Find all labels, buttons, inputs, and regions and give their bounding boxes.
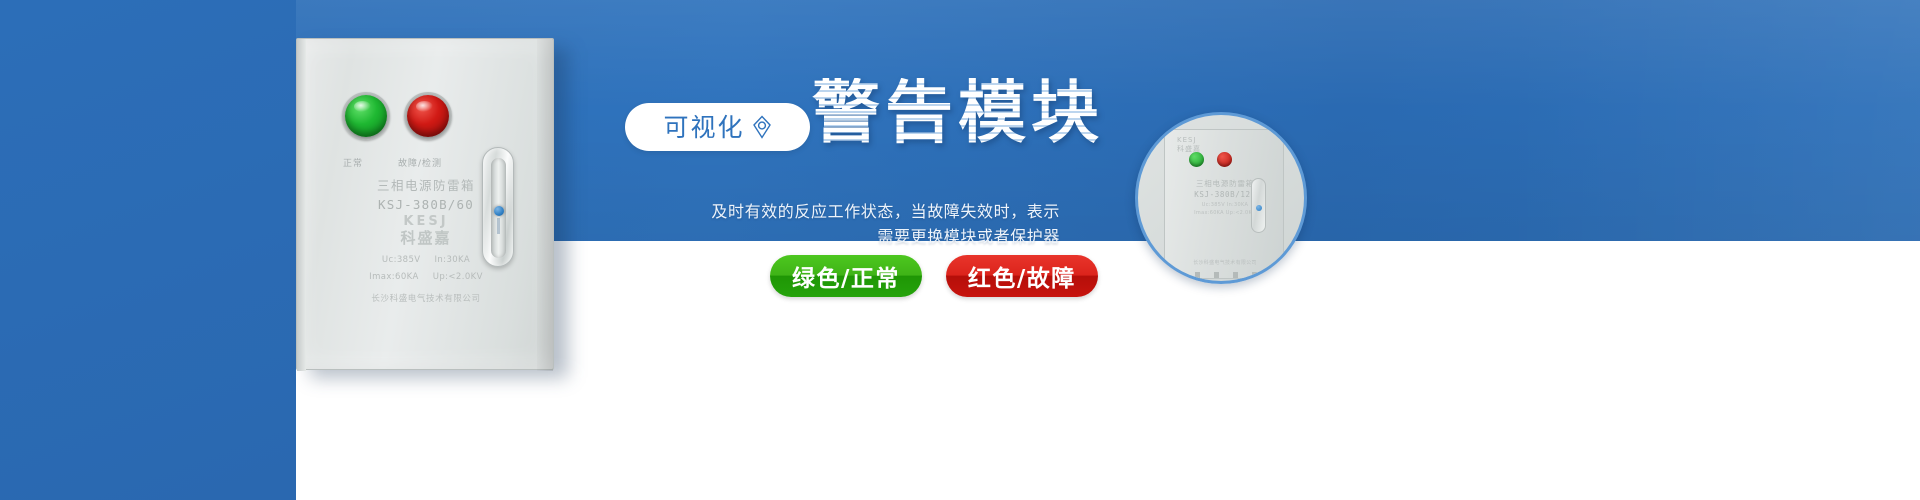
banner-subtitle: 及时有效的反应工作状态，当故障失效时，表示 需要更换模块或者保护器 [600,200,1060,250]
green-indicator-label: 正常 [343,156,363,169]
status-badge-green-label: 绿色/正常 [792,259,900,293]
inset-spec-line-1: Uc:385V In:30KA [1165,201,1285,209]
fault-indicator-label: 故障/检测 [398,156,442,169]
nameplate-spec-row-2: Imax:60KA Up:<2.0KV [297,272,555,282]
banner-left-blue-column [0,0,296,500]
inset-door-handle [1251,178,1266,233]
product-device-photo: 正常 故障/检测 三相电源防雷箱 KSJ-380B/60 KESJ 科盛嘉 Uc… [296,38,558,372]
spec-in: In:30KA [434,255,470,265]
device-enclosure: 正常 故障/检测 三相电源防雷箱 KSJ-380B/60 KESJ 科盛嘉 Uc… [296,38,554,370]
device-circular-inset-photo: KESJ 科盛嘉 三相电源防雷箱 KSJ-380B/120 Uc:385V In… [1135,112,1307,284]
nameplate-spec-row-1: Uc:385V In:30KA [297,255,555,265]
banner-stage: 正常 故障/检测 三相电源防雷箱 KSJ-380B/60 KESJ 科盛嘉 Uc… [0,0,1920,500]
subtitle-line-2: 需要更换模块或者保护器 [600,225,1060,250]
inset-nameplate: 三相电源防雷箱 KSJ-380B/120 Uc:385V In:30KA Ima… [1165,178,1285,217]
spec-imax: Imax:60KA [369,272,419,282]
subtitle-line-1: 及时有效的反应工作状态，当故障失效时，表示 [600,200,1060,225]
inset-nameplate-title: 三相电源防雷箱 [1165,178,1285,189]
green-indicator-highlight [354,101,371,112]
status-badge-green[interactable]: 绿色/正常 [770,255,922,297]
inset-spec-line-2: Imax:60KA Up:<2.0KV [1165,209,1285,217]
banner-headline: 警告模块 [812,78,1104,149]
green-indicator-light [345,95,387,137]
nameplate-brand-cn: 科盛嘉 [297,227,555,248]
handle-marker [497,218,500,234]
spec-uc: Uc:385V [382,255,421,265]
inset-foot [1214,272,1219,278]
device-nameplate: 三相电源防雷箱 KSJ-380B/60 KESJ 科盛嘉 Uc:385V In:… [297,175,555,304]
inset-handle-knob [1256,205,1262,211]
handle-lock-knob [494,206,504,216]
spec-up: Up:<2.0KV [433,272,483,282]
pill-label: 可视化 [663,115,744,140]
status-badge-red[interactable]: 红色/故障 [946,255,1098,297]
banner-right-fade [1500,0,1920,241]
nameplate-model: KSJ-380B/60 [297,197,555,212]
inset-red-indicator [1217,152,1232,167]
status-badge-group: 绿色/正常 红色/故障 [770,255,1098,297]
inset-nameplate-model: KSJ-380B/120 [1165,189,1285,201]
inset-foot [1195,272,1200,278]
red-indicator-highlight [416,101,433,112]
inset-foot [1252,272,1257,278]
visualization-pill-badge: 可视化 [625,103,810,151]
inset-device-feet [1195,272,1257,278]
inset-device-enclosure: KESJ 科盛嘉 三相电源防雷箱 KSJ-380B/120 Uc:385V In… [1164,129,1284,279]
status-badge-red-label: 红色/故障 [968,259,1076,293]
red-indicator-light [407,95,449,137]
inset-brand-en: KESJ [1177,136,1197,144]
nameplate-title: 三相电源防雷箱 [297,175,555,194]
location-diamond-icon [752,115,772,139]
device-door-handle [482,147,514,267]
inset-foot [1233,272,1238,278]
inset-green-indicator [1189,152,1204,167]
nameplate-company: 长沙科盛电气技术有限公司 [297,292,555,304]
inset-company-label: 长沙科盛电气技术有限公司 [1165,259,1285,266]
